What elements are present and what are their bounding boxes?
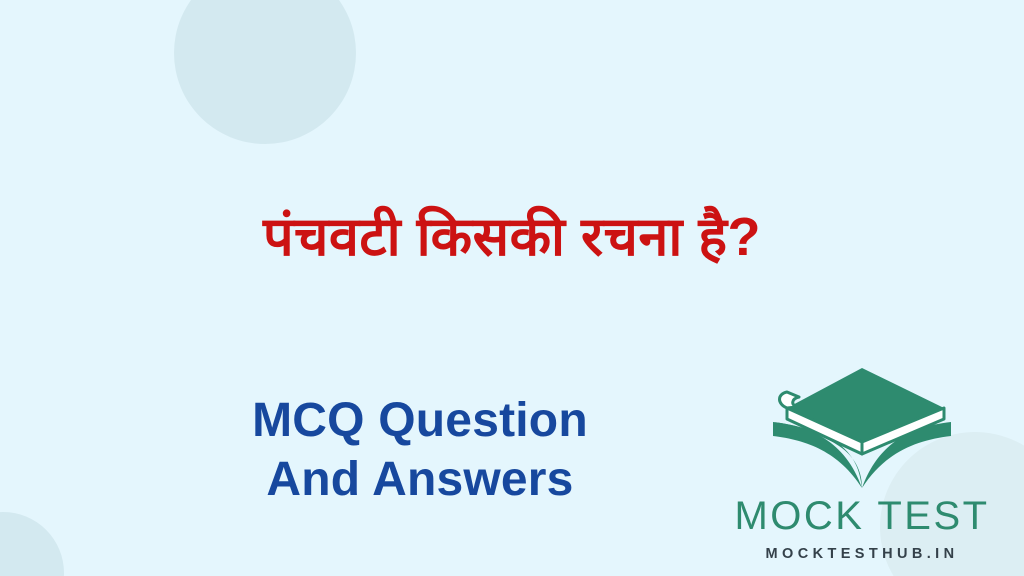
question-title: पंचवटी किसकी रचना है? bbox=[0, 208, 1024, 266]
logo-domain-text: MOCKTESTHUB.IN bbox=[716, 547, 1008, 562]
brand-logo: MOCK TEST MOCKTESTHUB.IN bbox=[716, 366, 1008, 566]
subtitle-line-1: MCQ Question bbox=[70, 392, 770, 451]
open-book-icon bbox=[769, 366, 955, 490]
subtitle-block: MCQ Question And Answers bbox=[70, 392, 770, 509]
book-spine-shape bbox=[780, 392, 800, 408]
content-layer: पंचवटी किसकी रचना है? MCQ Question And A… bbox=[0, 0, 1024, 576]
logo-wordmark: MOCK TEST bbox=[716, 496, 1008, 536]
subtitle-line-2: And Answers bbox=[70, 451, 770, 510]
thumbnail-card: पंचवटी किसकी रचना है? MCQ Question And A… bbox=[0, 0, 1024, 576]
